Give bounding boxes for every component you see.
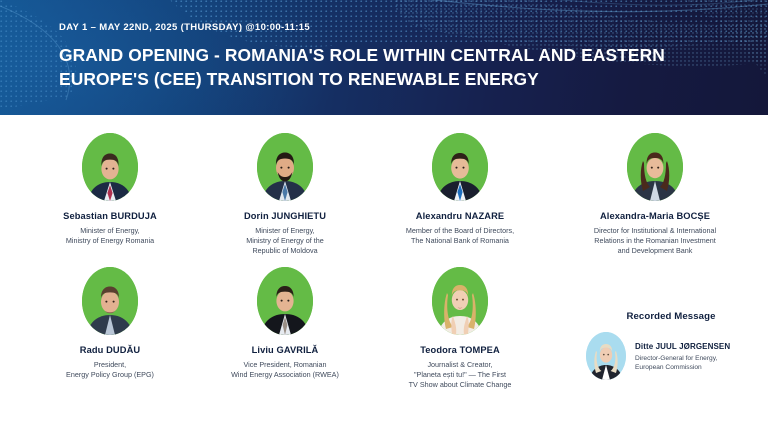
speaker-grid: Sebastian BURDUJA Minister of Energy, Mi… [0, 115, 768, 432]
speaker-card[interactable]: Alexandru NAZARE Member of the Board of … [365, 133, 555, 246]
recorded-message-person[interactable]: Ditte JUUL JØRGENSEN Director-General fo… [578, 332, 764, 380]
speaker-role: President, Energy Policy Group (EPG) [15, 360, 205, 380]
speaker-card[interactable]: Radu DUDĂU President, Energy Policy Grou… [15, 267, 205, 380]
speaker-role: Member of the Board of Directors, The Na… [365, 226, 555, 246]
speaker-role: Journalist & Creator, "Planeta ești tu!"… [365, 360, 555, 391]
speaker-role: Minister of Energy, Ministry of Energy R… [15, 226, 205, 246]
speaker-avatar [432, 267, 488, 335]
speaker-avatar [432, 133, 488, 201]
speaker-card[interactable]: Alexandra-Maria BOCȘE Director for Insti… [560, 133, 750, 257]
speaker-name: Radu DUDĂU [15, 344, 205, 356]
speaker-card[interactable]: Teodora TOMPEA Journalist & Creator, "Pl… [365, 267, 555, 391]
speaker-avatar [627, 133, 683, 201]
speaker-card[interactable]: Sebastian BURDUJA Minister of Energy, Mi… [15, 133, 205, 246]
speaker-avatar [257, 267, 313, 335]
speaker-card[interactable]: Dorin JUNGHIETU Minister of Energy, Mini… [190, 133, 380, 257]
speaker-name: Teodora TOMPEA [365, 344, 555, 356]
speaker-avatar [257, 133, 313, 201]
recorded-speaker-avatar [586, 332, 626, 380]
session-title: GRAND OPENING - ROMANIA'S ROLE WITHIN CE… [59, 43, 719, 91]
speaker-name: Dorin JUNGHIETU [190, 210, 380, 222]
recorded-speaker-info: Ditte JUUL JØRGENSEN Director-General fo… [635, 341, 730, 372]
slide-header: DAY 1 – MAY 22ND, 2025 (THURSDAY) @10:00… [0, 0, 768, 115]
speaker-role: Director for Institutional & Internation… [560, 226, 750, 257]
speaker-role: Vice President, Romanian Wind Energy Ass… [190, 360, 380, 380]
recorded-speaker-role: Director-General for Energy, European Co… [635, 354, 730, 372]
presentation-slide: DAY 1 – MAY 22ND, 2025 (THURSDAY) @10:00… [0, 0, 768, 432]
session-date-time: DAY 1 – MAY 22ND, 2025 (THURSDAY) @10:00… [59, 22, 310, 33]
speaker-avatar [82, 267, 138, 335]
speaker-name: Sebastian BURDUJA [15, 210, 205, 222]
speaker-name: Alexandru NAZARE [365, 210, 555, 222]
recorded-message-title: Recorded Message [578, 311, 764, 322]
speaker-card[interactable]: Liviu GAVRILĂ Vice President, Romanian W… [190, 267, 380, 380]
recorded-message-block: Recorded Message [578, 311, 764, 380]
speaker-name: Alexandra-Maria BOCȘE [560, 210, 750, 222]
speaker-name: Liviu GAVRILĂ [190, 344, 380, 356]
speaker-avatar [82, 133, 138, 201]
speaker-role: Minister of Energy, Ministry of Energy o… [190, 226, 380, 257]
recorded-speaker-name: Ditte JUUL JØRGENSEN [635, 341, 730, 352]
